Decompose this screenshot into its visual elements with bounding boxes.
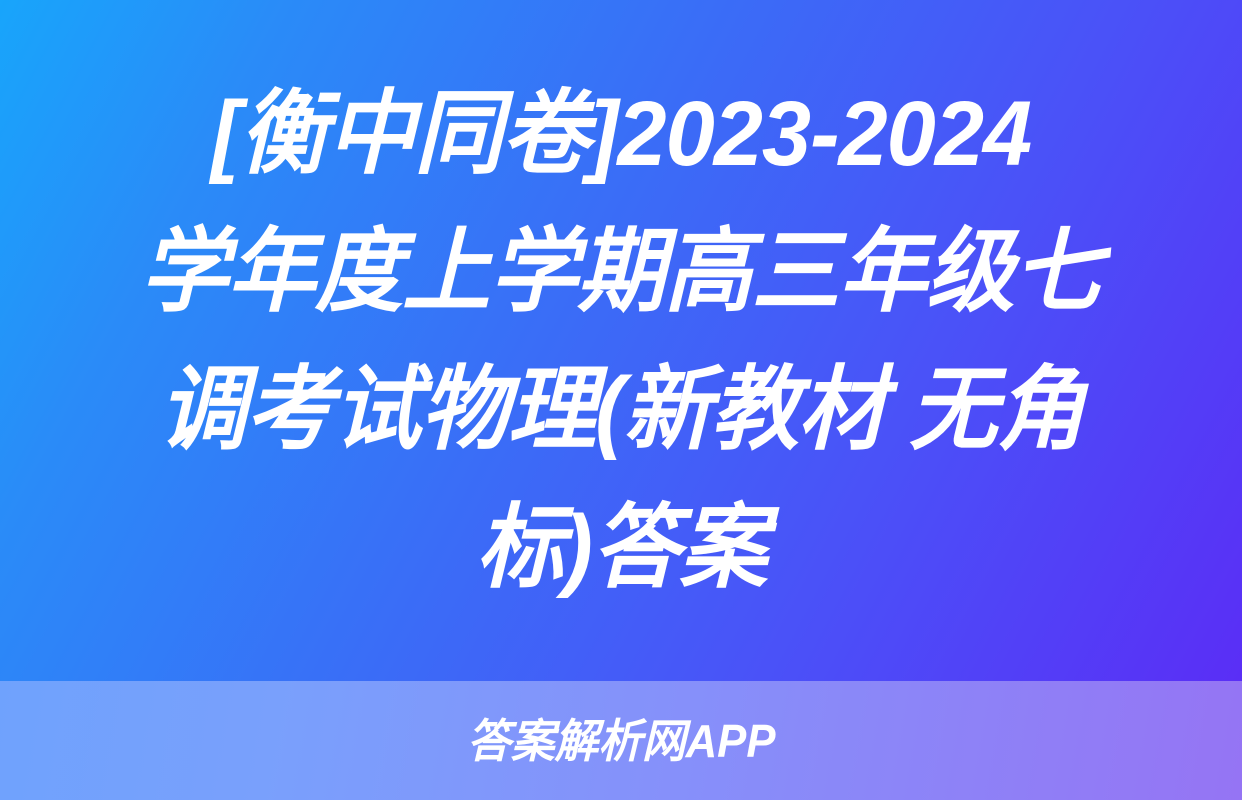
- page-title: [衡中同卷]2023-2024 学年度上学期高三年级七 调考试物理(新教材 无角…: [0, 0, 1242, 681]
- watermark-bar: 答案解析网APP: [0, 681, 1242, 800]
- title-line-3: 调考试物理(新教材 无角: [158, 341, 1084, 479]
- title-line-1: [衡中同卷]2023-2024: [211, 65, 1031, 203]
- watermark-label: 答案解析网APP: [467, 716, 775, 766]
- title-line-4: 标)答案: [476, 479, 767, 617]
- title-line-2: 学年度上学期高三年级七: [141, 203, 1102, 341]
- answer-cover-card: [衡中同卷]2023-2024 学年度上学期高三年级七 调考试物理(新教材 无角…: [0, 0, 1242, 800]
